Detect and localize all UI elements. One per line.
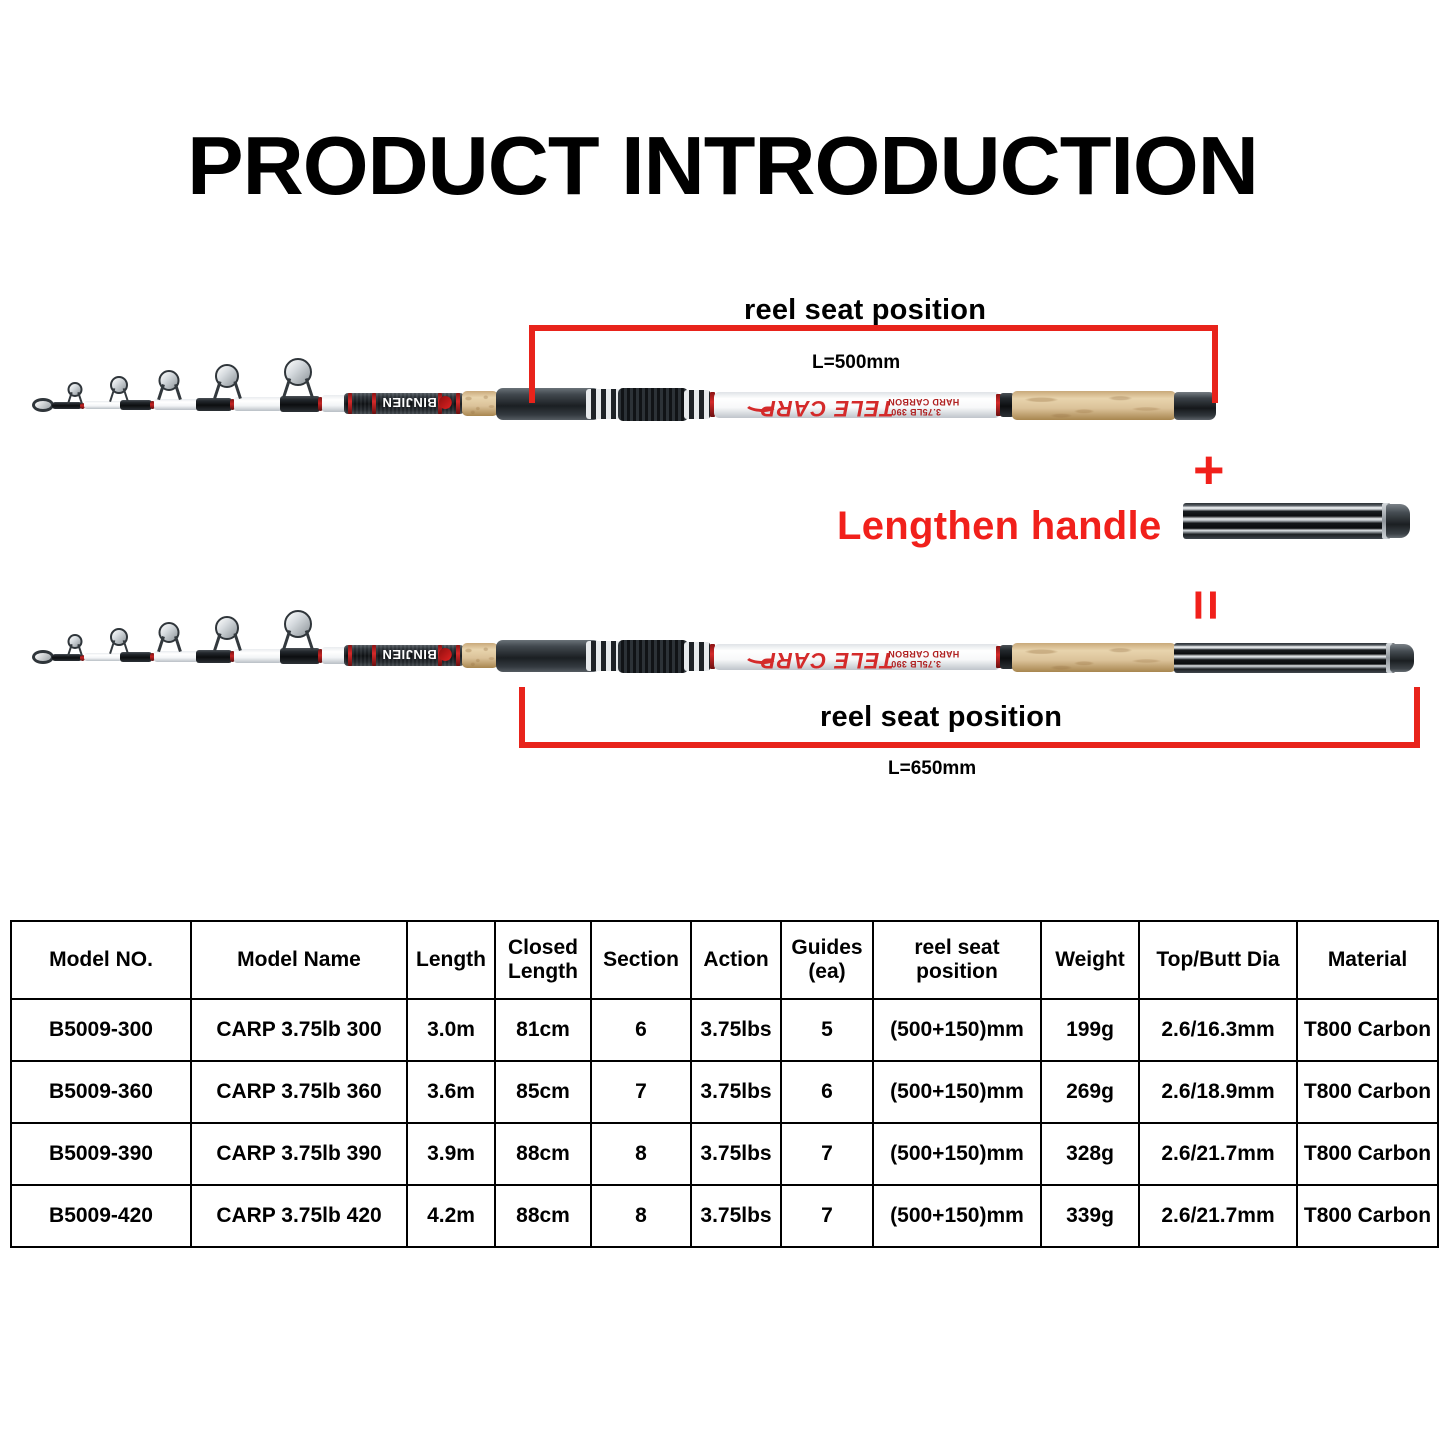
cell-material: T800 Carbon — [1297, 1061, 1438, 1123]
dimension-bracket-bottom: reel seat position L=650mm — [0, 0, 1445, 800]
cell-model-no: B5009-300 — [11, 999, 191, 1061]
cell-length: 3.9m — [407, 1123, 495, 1185]
cell-weight: 328g — [1041, 1123, 1139, 1185]
cell-reel-seat-position: (500+150)mm — [873, 1123, 1041, 1185]
cell-guides: 6 — [781, 1061, 873, 1123]
column-header-closed-length: Closed Length — [495, 921, 591, 999]
column-header-length: Length — [407, 921, 495, 999]
cell-section: 8 — [591, 1123, 691, 1185]
cell-top-butt-dia: 2.6/18.9mm — [1139, 1061, 1297, 1123]
cell-length: 3.0m — [407, 999, 495, 1061]
column-header-guides: Guides (ea) — [781, 921, 873, 999]
cell-model-no: B5009-420 — [11, 1185, 191, 1247]
cell-material: T800 Carbon — [1297, 1185, 1438, 1247]
column-header-model-name: Model Name — [191, 921, 407, 999]
dimension-label-bottom: reel seat position — [820, 701, 1062, 734]
column-header-section: Section — [591, 921, 691, 999]
cell-length: 4.2m — [407, 1185, 495, 1247]
dimension-tick-right-bottom — [1414, 687, 1420, 748]
cell-model-no: B5009-360 — [11, 1061, 191, 1123]
dimension-tick-left-bottom — [519, 687, 525, 748]
cell-top-butt-dia: 2.6/16.3mm — [1139, 999, 1297, 1061]
column-header-reel-seat-position: reel seat position — [873, 921, 1041, 999]
cell-reel-seat-position: (500+150)mm — [873, 999, 1041, 1061]
cell-closed-length: 88cm — [495, 1123, 591, 1185]
cell-action: 3.75lbs — [691, 999, 781, 1061]
cell-model-name: CARP 3.75lb 360 — [191, 1061, 407, 1123]
cell-model-name: CARP 3.75lb 420 — [191, 1185, 407, 1247]
cell-reel-seat-position: (500+150)mm — [873, 1061, 1041, 1123]
column-header-model-no: Model NO. — [11, 921, 191, 999]
table-row: B5009-360 CARP 3.75lb 360 3.6m 85cm 7 3.… — [11, 1061, 1438, 1123]
dimension-line-bottom — [519, 742, 1420, 748]
cell-closed-length: 81cm — [495, 999, 591, 1061]
cell-closed-length: 85cm — [495, 1061, 591, 1123]
cell-weight: 269g — [1041, 1061, 1139, 1123]
cell-action: 3.75lbs — [691, 1185, 781, 1247]
column-header-action: Action — [691, 921, 781, 999]
cell-weight: 339g — [1041, 1185, 1139, 1247]
cell-reel-seat-position: (500+150)mm — [873, 1185, 1041, 1247]
cell-section: 7 — [591, 1061, 691, 1123]
cell-model-name: CARP 3.75lb 300 — [191, 999, 407, 1061]
table-row: B5009-300 CARP 3.75lb 300 3.0m 81cm 6 3.… — [11, 999, 1438, 1061]
column-header-weight: Weight — [1041, 921, 1139, 999]
cell-action: 3.75lbs — [691, 1061, 781, 1123]
cell-section: 6 — [591, 999, 691, 1061]
dimension-measure-bottom: L=650mm — [888, 758, 976, 780]
cell-guides: 7 — [781, 1185, 873, 1247]
cell-model-name: CARP 3.75lb 390 — [191, 1123, 407, 1185]
cell-guides: 5 — [781, 999, 873, 1061]
cell-top-butt-dia: 2.6/21.7mm — [1139, 1185, 1297, 1247]
cell-top-butt-dia: 2.6/21.7mm — [1139, 1123, 1297, 1185]
column-header-material: Material — [1297, 921, 1438, 999]
table-row: B5009-420 CARP 3.75lb 420 4.2m 88cm 8 3.… — [11, 1185, 1438, 1247]
cell-model-no: B5009-390 — [11, 1123, 191, 1185]
cell-guides: 7 — [781, 1123, 873, 1185]
cell-material: T800 Carbon — [1297, 1123, 1438, 1185]
cell-material: T800 Carbon — [1297, 999, 1438, 1061]
table-header-row: Model NO. Model Name Length Closed Lengt… — [11, 921, 1438, 999]
table-row: B5009-390 CARP 3.75lb 390 3.9m 88cm 8 3.… — [11, 1123, 1438, 1185]
cell-section: 8 — [591, 1185, 691, 1247]
cell-closed-length: 88cm — [495, 1185, 591, 1247]
specification-table: Model NO. Model Name Length Closed Lengt… — [10, 920, 1439, 1248]
cell-length: 3.6m — [407, 1061, 495, 1123]
cell-weight: 199g — [1041, 999, 1139, 1061]
column-header-top-butt-dia: Top/Butt Dia — [1139, 921, 1297, 999]
cell-action: 3.75lbs — [691, 1123, 781, 1185]
